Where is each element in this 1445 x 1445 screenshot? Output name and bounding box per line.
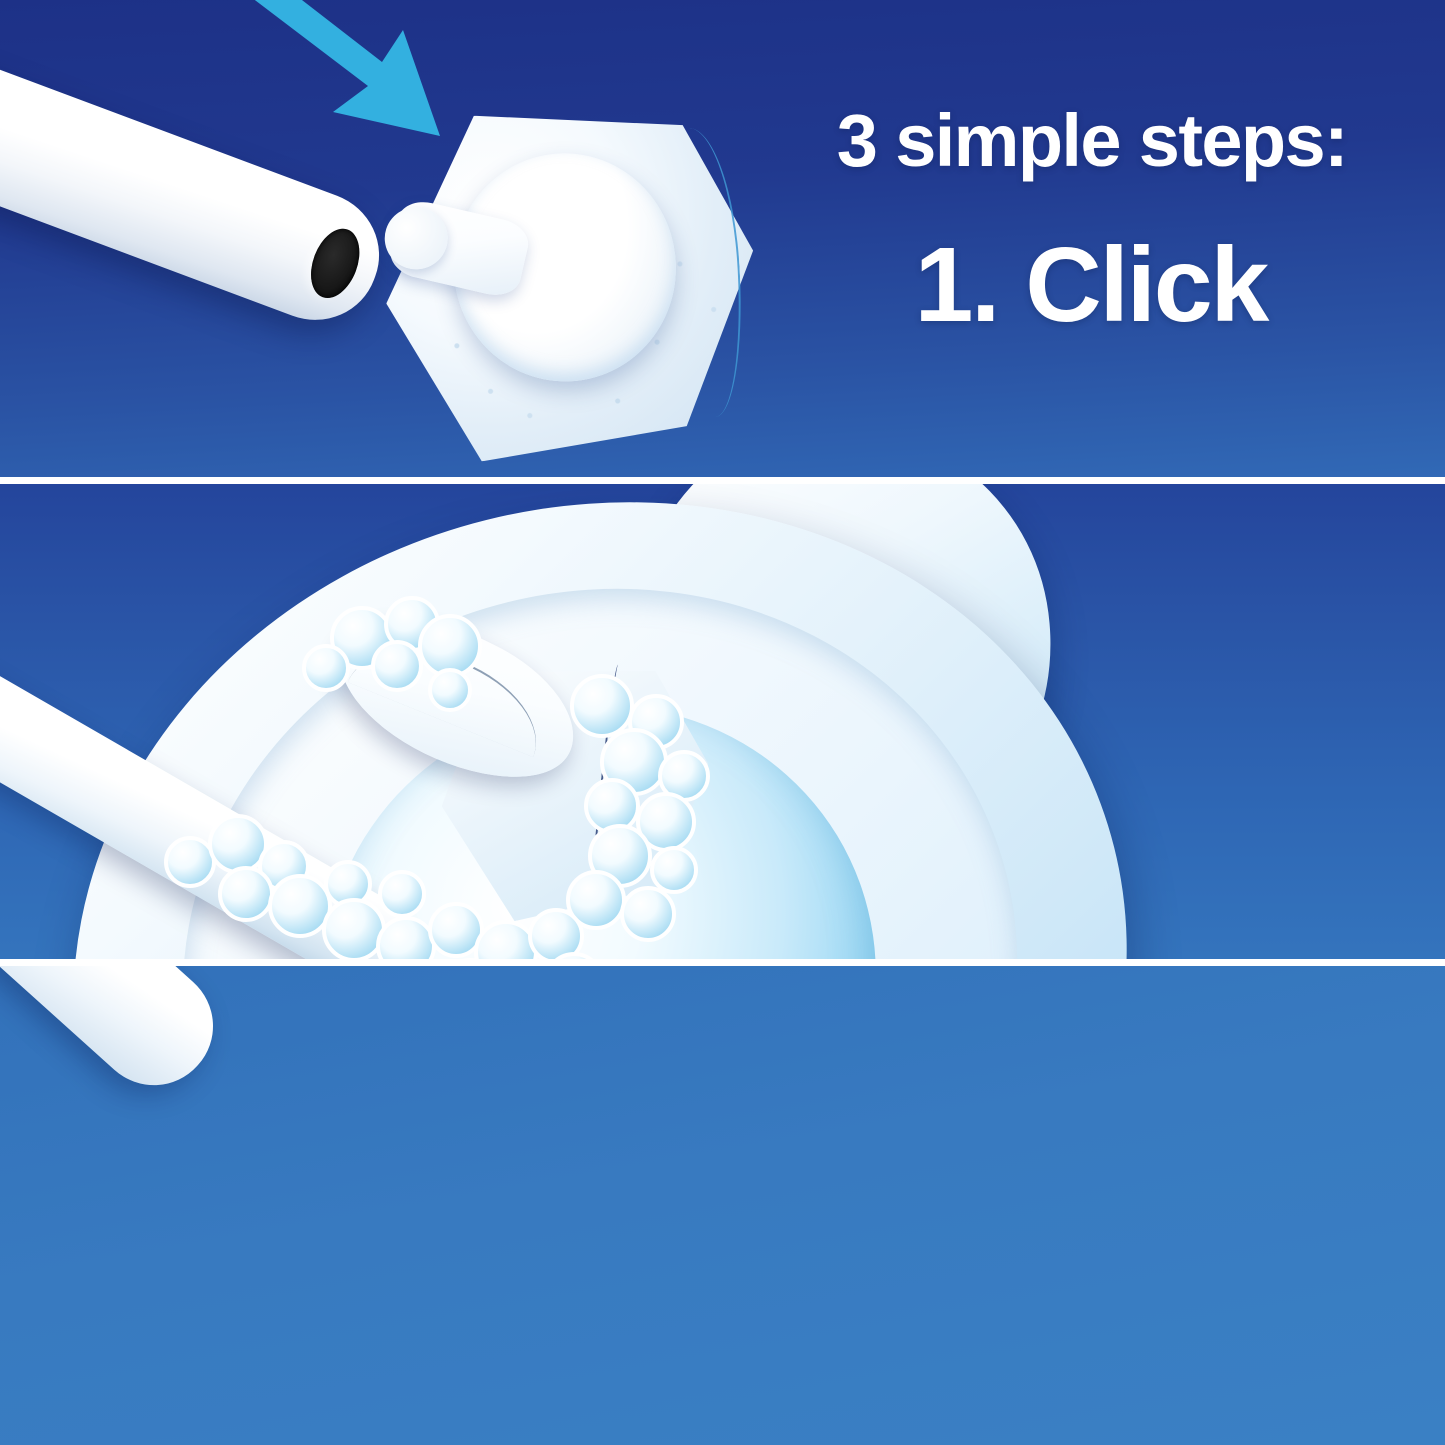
wand-socket-ring xyxy=(1367,187,1437,291)
panel-step-swish: 2. Swish xyxy=(0,484,1445,959)
step-label-click: 1. Click xyxy=(914,232,1267,338)
page-title: 3 simple steps: xyxy=(837,104,1347,178)
cleaning-wand-icon xyxy=(0,966,237,1109)
wand-socket-opening xyxy=(302,222,368,305)
hex-cleaning-pad-icon xyxy=(371,93,770,469)
foam-bubbles-icon xyxy=(150,594,850,959)
panel-step-click: 3 simple steps: 1. Click xyxy=(0,0,1445,477)
infographic-canvas: 3 simple steps: 1. Click xyxy=(0,0,1445,1445)
panel-step-toss: 3. Toss xyxy=(0,966,1445,1445)
